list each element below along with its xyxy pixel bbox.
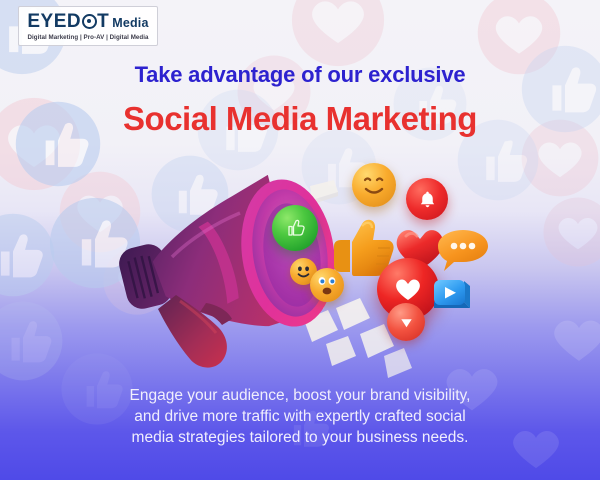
body-line-3: media strategies tailored to your busine… [50, 427, 550, 448]
like-thumb-sphere-green [272, 205, 318, 251]
smiley-face-icon [352, 163, 396, 207]
play-triangle-icon [398, 314, 415, 331]
body-copy: Engage your audience, boost your brand v… [50, 385, 550, 448]
smiley-emoji-top [352, 163, 396, 207]
thumbs-up-icon [283, 216, 307, 240]
social-media-marketing-poster: EYED T Media Digital Marketing | Pro-AV … [0, 0, 600, 480]
notification-bell-badge [406, 178, 448, 220]
heart-icon [394, 276, 422, 302]
body-line-2: and drive more traffic with expertly cra… [50, 406, 550, 427]
play-button-blue [428, 272, 476, 320]
body-line-1: Engage your audience, boost your brand v… [50, 385, 550, 406]
play-button-red [387, 303, 425, 341]
chat-bubble-orange [434, 226, 492, 274]
bell-icon [417, 189, 438, 210]
